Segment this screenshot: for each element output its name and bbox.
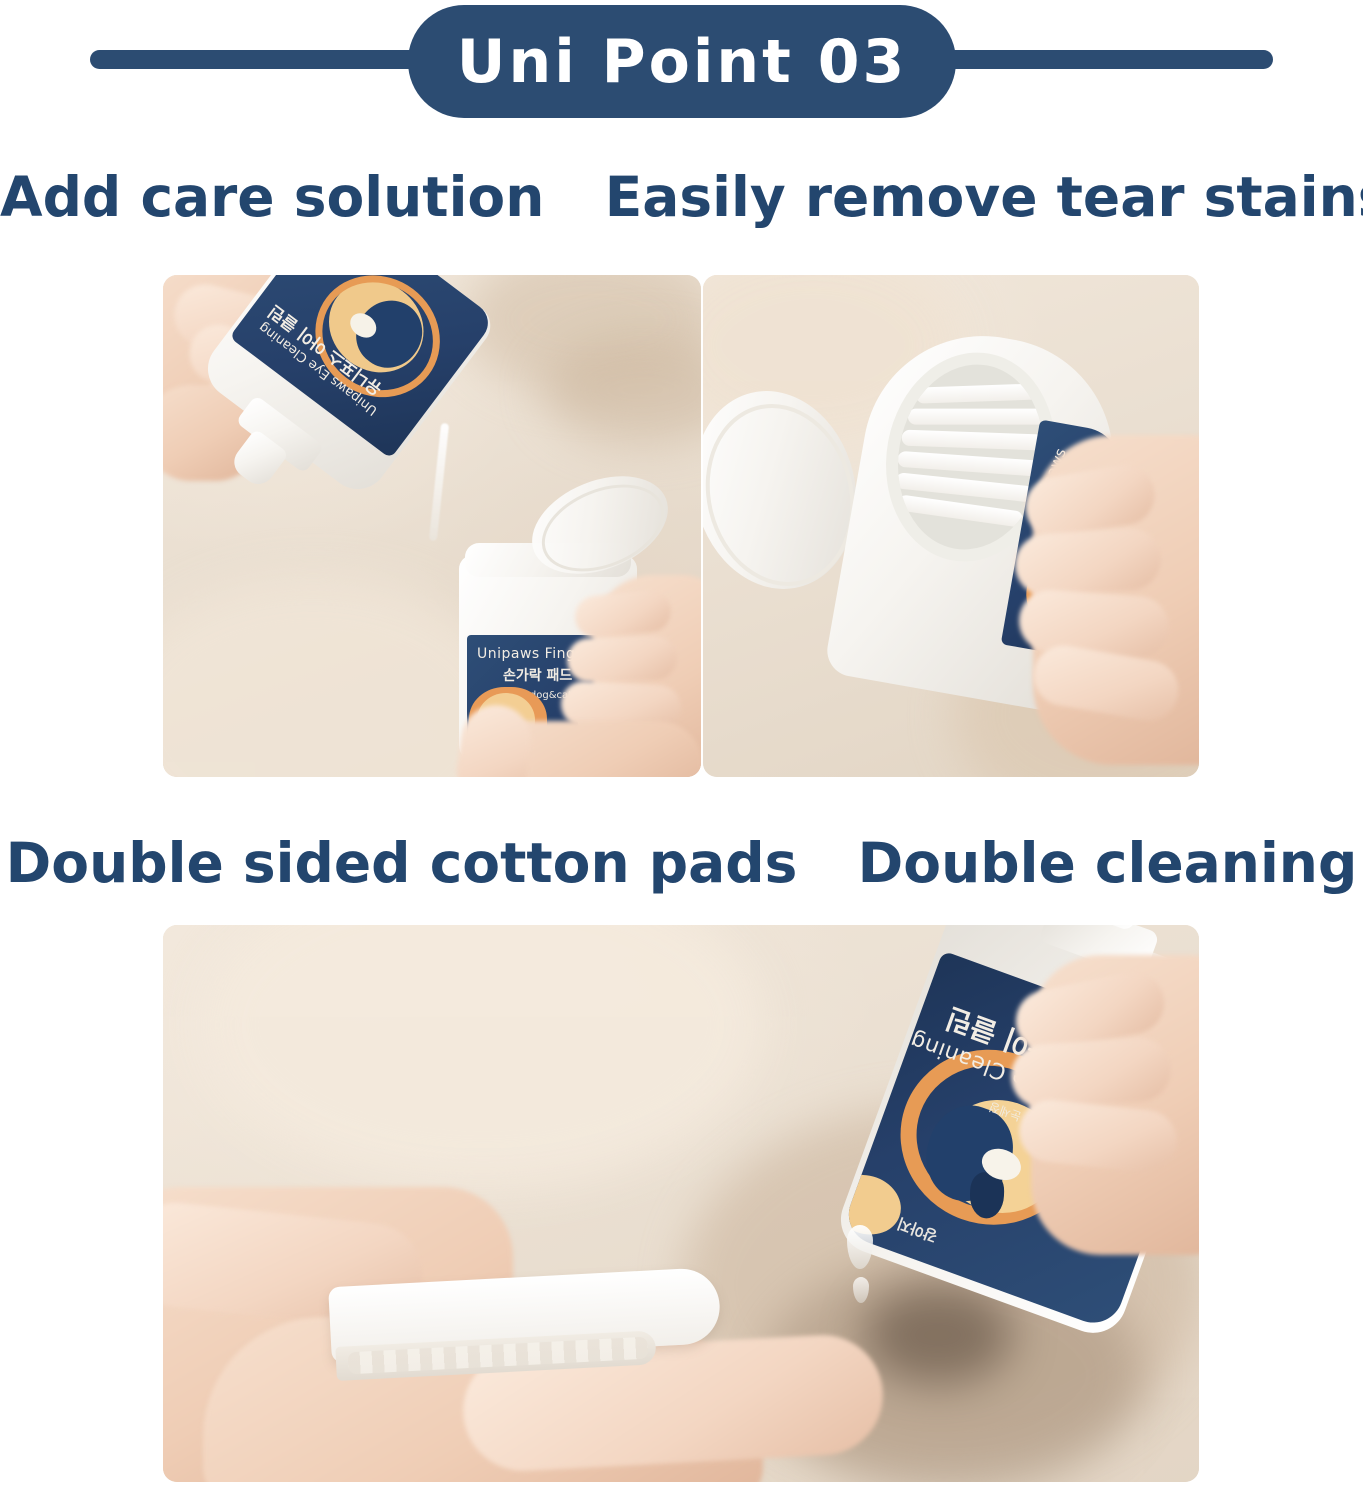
finger [1013,526,1163,598]
cotton-pad-stack-item [901,430,1043,451]
header-banner: Uni Point 03 [0,0,1363,126]
section-1-heading: Add care solution Easily remove tear sta… [0,170,1363,225]
finger [1009,1035,1173,1110]
cotton-pad-stack-item [897,451,1040,477]
background-blur-dog-nose [863,1285,1013,1385]
photo-open-jar-cotton-pads: Unipaws [703,275,1199,777]
section-2-heading-part-2: Double cleaning [858,831,1358,895]
photo-drip-onto-finger-pad: Unipaws Eye Cleaning 유니포스 아이 클린 반려동물 눈세정… [163,925,1199,1482]
uni-point-badge-label: Uni Point 03 [457,32,907,92]
section-1-heading-part-1: Add care solution [0,165,544,229]
section-2-heading-part-1: Double sided cotton pads [6,831,798,895]
section-1-heading-part-2: Easily remove tear stains [605,165,1363,229]
cotton-finger-pad [328,1267,724,1407]
jar-label-brand-kr: 손가락 패드 [503,669,572,683]
photo-pour-solution-into-jar: Unipaws Eye Cleaning 유니포스 아이 클린 Unipaws … [163,275,701,777]
finger [566,635,677,683]
uni-point-badge: Uni Point 03 [408,5,956,118]
section-2-heading: Double sided cotton pads Double cleaning [0,836,1363,891]
finger [1017,588,1171,660]
cotton-pad-stack-item [916,383,1052,404]
cotton-pad-stack-item [908,409,1048,425]
